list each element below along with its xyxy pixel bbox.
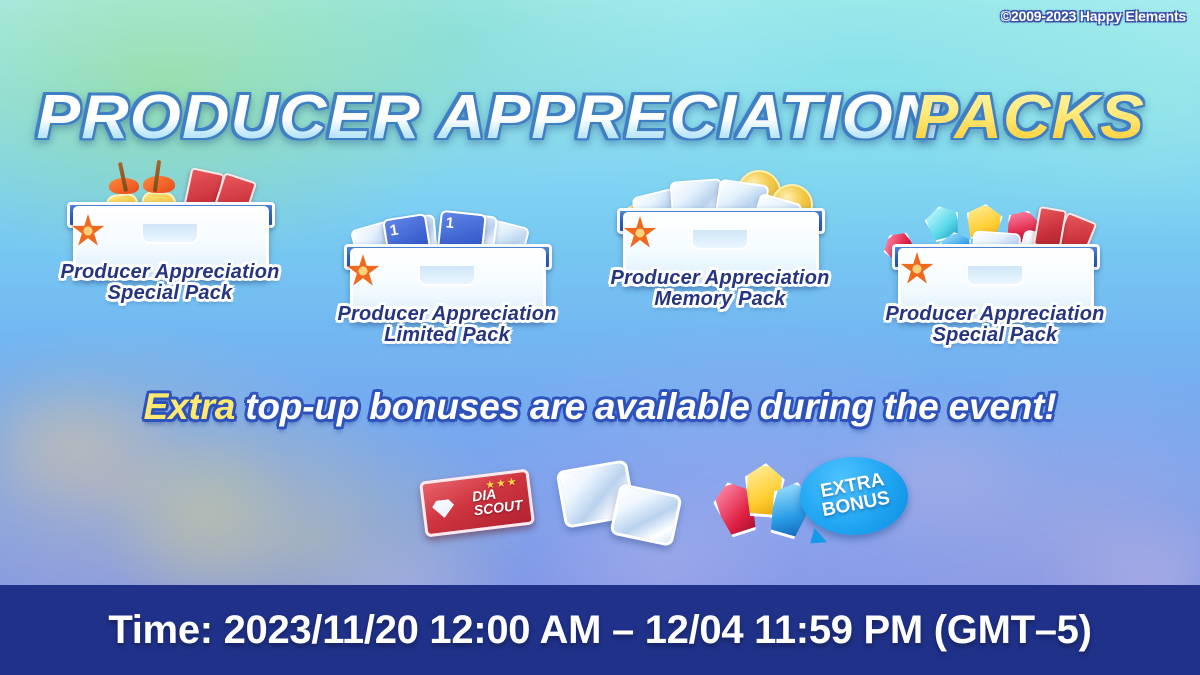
dia-scout-ticket-item: ★★★ DIA SCOUT	[419, 469, 535, 538]
bonus-items-row: ★★★ DIA SCOUT EXTRA BONUS	[0, 455, 1200, 555]
pack-label-1: Producer Appreciation Special Pack	[55, 262, 285, 304]
title-main-text: PRODUCER APPRECIATION	[36, 82, 942, 153]
card-value: 1	[389, 221, 400, 239]
pack-label-line2: Memory Pack	[605, 289, 835, 310]
pack-label-line1: Producer Appreciation	[605, 268, 835, 289]
pack-label-line1: Producer Appreciation	[880, 304, 1110, 325]
pack-card-special-1[interactable]: Producer Appreciation Special Pack	[55, 170, 285, 280]
event-time-text: Time: 2023/11/20 12:00 AM – 12/04 11:59 …	[108, 608, 1091, 653]
pack-label-line2: Special Pack	[880, 325, 1110, 346]
pack-label-3: Producer Appreciation Memory Pack	[605, 268, 835, 310]
red-ribbon-icon	[143, 176, 175, 193]
pack-label-line1: Producer Appreciation	[55, 262, 285, 283]
pack-box-tab-1	[141, 224, 199, 244]
extra-bonus-label: EXTRA BONUS	[817, 471, 891, 521]
promo-banner: ©2009-2023 Happy Elements PRODUCER APPRE…	[0, 0, 1200, 675]
ticket-label-line2: SCOUT	[473, 498, 523, 518]
pack-card-memory[interactable]: Producer Appreciation Memory Pack	[605, 176, 835, 286]
tagline-rest: top-up bonuses are available during the …	[235, 386, 1056, 427]
pack-label-line1: Producer Appreciation	[332, 304, 562, 325]
extra-bonus-badge: EXTRA BONUS	[800, 457, 908, 535]
pack-box-tab-2	[418, 266, 476, 286]
pack-label-line2: Limited Pack	[332, 325, 562, 346]
tagline-accent: Extra	[144, 386, 236, 427]
copyright-notice: ©2009-2023 Happy Elements	[1001, 8, 1186, 24]
tagline: Extra top-up bonuses are available durin…	[0, 386, 1200, 428]
pack-box-tab-4	[966, 266, 1024, 286]
white-diamond-item	[609, 483, 682, 547]
pack-label-2: Producer Appreciation Limited Pack	[332, 304, 562, 346]
event-time-bar: Time: 2023/11/20 12:00 AM – 12/04 11:59 …	[0, 585, 1200, 675]
title-accent-text: PACKS	[914, 82, 1144, 153]
pack-label-4: Producer Appreciation Special Pack	[880, 304, 1110, 346]
page-title: PRODUCER APPRECIATION PACKS	[0, 82, 1200, 153]
pack-box-tab-3	[691, 230, 749, 250]
card-value: 1	[445, 214, 455, 232]
pack-card-special-2[interactable]: Producer Appreciation Special Pack	[880, 212, 1110, 322]
pack-card-limited[interactable]: 1 1 Producer Appreciation Limited Pack	[332, 212, 562, 322]
pack-label-line2: Special Pack	[55, 283, 285, 304]
